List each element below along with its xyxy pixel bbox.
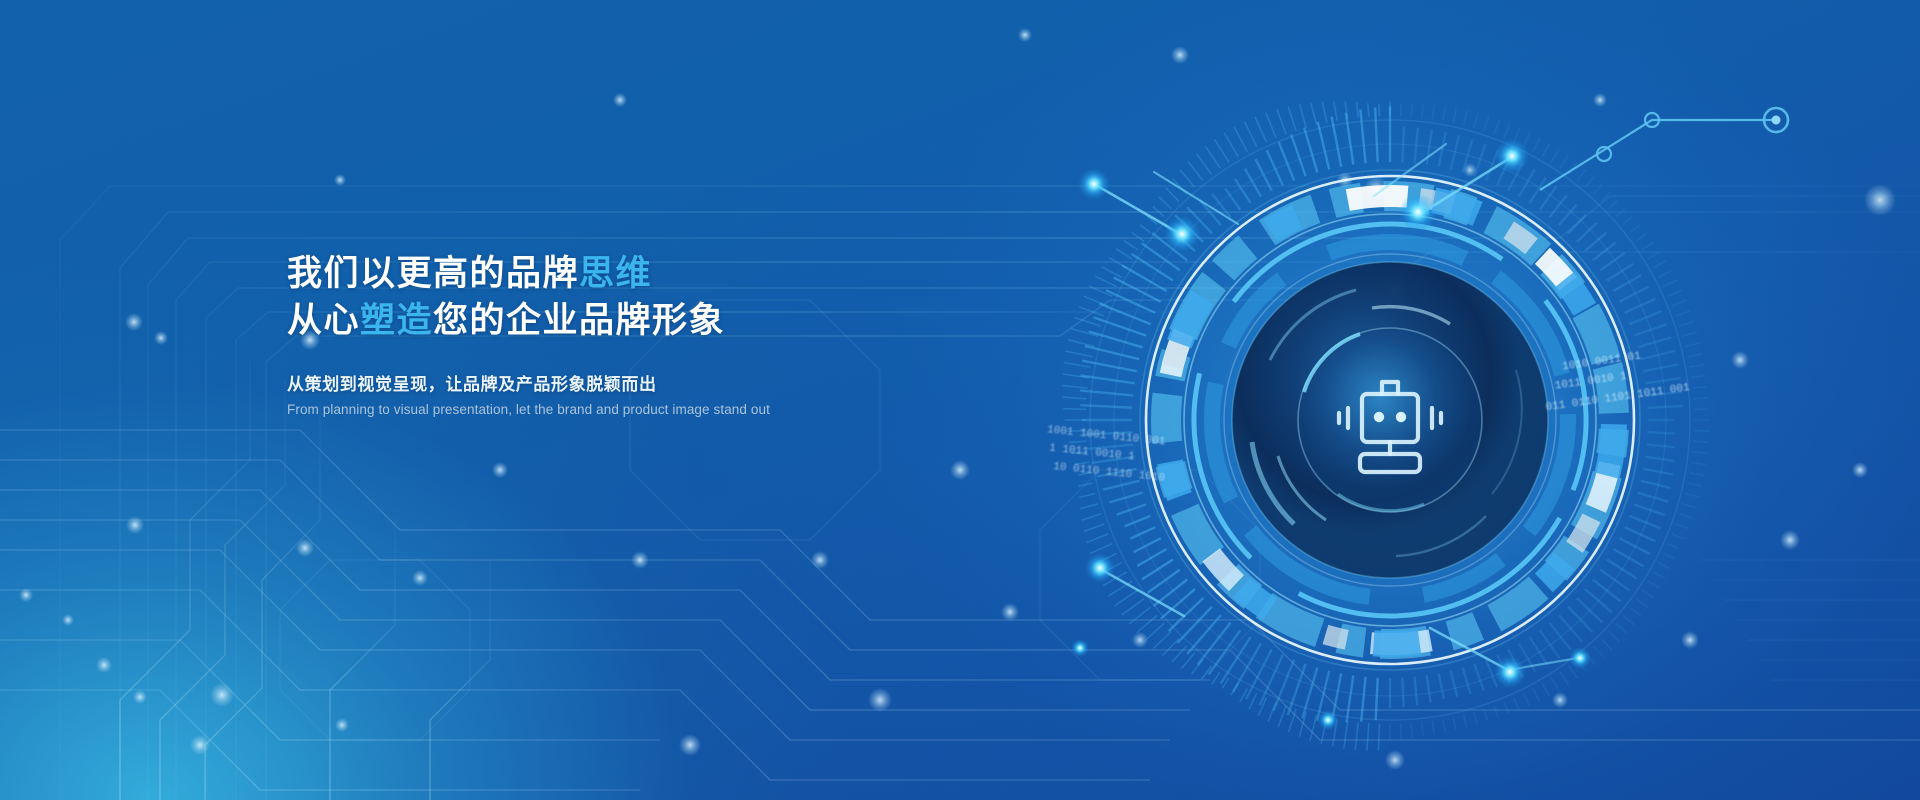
hud-lens-arcs (1252, 290, 1522, 556)
circuit-traces-bottom-left (0, 360, 1920, 800)
svg-text:1010 0011 01: 1010 0011 01 (1562, 350, 1643, 373)
headline-line2-highlight: 塑造 (360, 301, 433, 340)
hud-ambient-glow (1015, 45, 1765, 795)
right-striations (1700, 560, 1920, 680)
hud-outer-rings (1090, 120, 1690, 720)
svg-text:10 0110 1110 1010: 10 0110 1110 1010 (1053, 461, 1166, 485)
hud-core-arcs (1278, 307, 1482, 520)
svg-text:1001 1001 0110 001: 1001 1001 0110 001 (1046, 424, 1166, 448)
svg-text:1 1011 0010 1: 1 1011 0010 1 (1049, 443, 1136, 464)
svg-text:1011 0010 1: 1011 0010 1 (1554, 371, 1628, 393)
hud-lens (1232, 262, 1548, 578)
headline-line-1: 我们以更高的品牌思维 (287, 250, 1107, 297)
binary-overlay-right: 1010 0011 01 1011 0010 1 011 0110 1101 1… (1540, 344, 1691, 414)
hud-core (1298, 328, 1482, 512)
subtitle-english: From planning to visual presentation, le… (287, 402, 1107, 417)
headline-line2-suffix: 您的企业品牌形象 (433, 301, 725, 340)
headline-line-2: 从心塑造您的企业品牌形象 (287, 297, 1107, 344)
hero-banner: 1010 0011 01 1011 0010 1 011 0110 1101 1… (0, 0, 1920, 800)
headline-line1-highlight: 思维 (579, 254, 652, 293)
hud-light-nodes (1071, 139, 1591, 730)
hud-segmented-ring (1081, 111, 1698, 728)
svg-text:011 0110 1101 1011 001: 011 0110 1101 1011 001 (1545, 382, 1691, 414)
headline-line1-prefix: 我们以更高的品牌 (287, 254, 579, 293)
hud-inner-ring (1212, 242, 1568, 598)
hud-bright-rings (1122, 152, 1657, 687)
hero-copy-block: 我们以更高的品牌思维 从心塑造您的企业品牌形象 从策划到视觉呈现，让品牌及产品形… (287, 250, 1107, 417)
binary-overlay-left: 1001 1001 0110 001 1 1011 0010 1 10 0110… (1043, 424, 1170, 485)
hud-outer-tick-fan (1062, 101, 1709, 751)
headline-line2-prefix: 从心 (287, 301, 360, 340)
subtitle-chinese: 从策划到视觉呈现，让品牌及产品形象脱颖而出 (287, 370, 1107, 395)
hud-antenna-trace (1540, 108, 1788, 190)
robot-icon (1339, 382, 1441, 472)
